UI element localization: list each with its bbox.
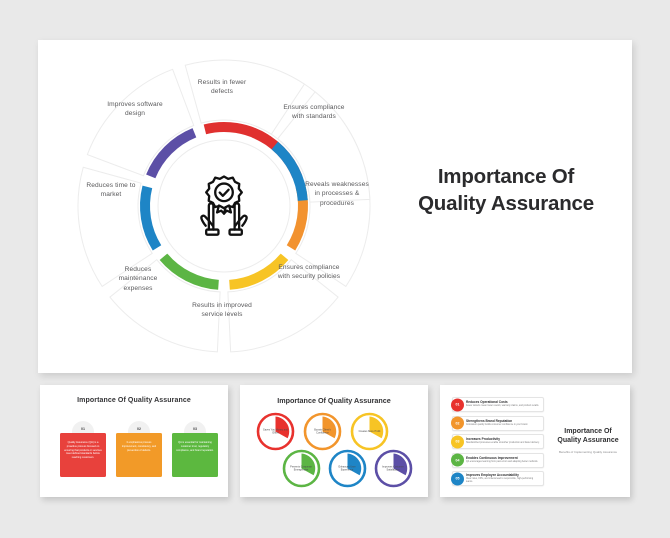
thumb3-item-number-1: 01 xyxy=(451,398,464,411)
thumb2-ring-label-2: Boosts Client's Confidence xyxy=(308,428,337,436)
thumb1-card-text-2: It emphasizes process improvement, consi… xyxy=(116,433,162,477)
thumbnail-1-content: Importance Of Quality Assurance 01Qualit… xyxy=(40,385,228,497)
main-title-line-1: Importance Of xyxy=(396,163,616,190)
presentation-preview-page: Results in fewer defectsEnsures complian… xyxy=(0,0,670,538)
wheel-label-6: Reduces maintenance expenses xyxy=(105,265,171,293)
thumb2-ring-5[interactable]: Enhances User Experience xyxy=(326,447,368,490)
thumbnail-slide-3[interactable]: 01Reduces Operational CostsFewer defects… xyxy=(440,385,630,497)
main-slide-title: Importance Of Quality Assurance xyxy=(396,163,616,218)
thumbnail-slide-1[interactable]: Importance Of Quality Assurance 01Qualit… xyxy=(40,385,228,497)
thumbnail-2-ring-list: Saves You Money and EffortBoosts Client'… xyxy=(254,410,414,490)
thumbnail-3-subtitle: Benefits of Implementing Quality Assuran… xyxy=(552,450,624,454)
thumb3-item-number-5: 05 xyxy=(451,472,464,485)
thumb2-ring-label-4: Prevents Corporate Emergencies xyxy=(287,465,315,473)
thumb2-ring-4[interactable]: Prevents Corporate Emergencies xyxy=(280,447,322,490)
thumb1-card-text-1: Quality Assurance (QA) is a proactive pr… xyxy=(60,433,106,477)
thumbnail-slide-2[interactable]: Importance Of Quality Assurance Saves Yo… xyxy=(240,385,428,497)
thumb3-item-text-5: Improves Employee AccountabilityClear ro… xyxy=(466,473,543,484)
quality-badge-in-hands-icon xyxy=(187,169,261,243)
main-title-line-2: Quality Assurance xyxy=(396,190,616,217)
thumb3-item-body-3: Standardized processes enable smoother p… xyxy=(466,442,540,445)
thumb3-item-text-1: Reduces Operational CostsFewer defects m… xyxy=(466,400,542,408)
thumb3-item-body-2: Consistent quality builds consumer confi… xyxy=(466,424,528,427)
thumb3-item-heading-2: Strengthens Brand Reputation xyxy=(466,419,528,423)
thumbnail-3-item-list: 01Reduces Operational CostsFewer defects… xyxy=(452,397,544,490)
thumbnail-2-ring-row-bottom: Prevents Corporate EmergenciesEnhances U… xyxy=(280,447,414,490)
thumbnail-1-title: Importance Of Quality Assurance xyxy=(40,397,228,404)
wheel-label-7: Reduces time to market xyxy=(78,181,144,200)
thumb2-ring-6[interactable]: Improves Customer Satisfaction xyxy=(372,447,414,490)
thumbnail-3-content: 01Reduces Operational CostsFewer defects… xyxy=(440,385,630,497)
wheel-label-4: Ensures compliance with security policie… xyxy=(276,263,342,282)
thumb3-item-body-4: QA encourages learning from past errors … xyxy=(466,461,538,464)
thumb1-card-text-3: QA is essential for maintaining customer… xyxy=(172,433,218,477)
thumb3-item-body-5: Clear roles, KPIs, and criteria lead to … xyxy=(466,478,540,485)
thumb3-item-3[interactable]: 03Increases ProductivityStandardized pro… xyxy=(452,434,544,449)
thumb3-item-heading-4: Enables Continuous Improvement xyxy=(466,456,538,460)
thumbnail-3-title-block: Importance Of Quality Assurance Benefits… xyxy=(552,427,624,454)
thumb3-item-2[interactable]: 02Strengthens Brand ReputationConsistent… xyxy=(452,416,544,431)
wheel-label-3: Reveals weaknesses in processes & proced… xyxy=(304,180,370,208)
wheel-label-2: Ensures compliance with standards xyxy=(281,103,347,122)
wheel-label-5: Results in improved service levels xyxy=(189,301,255,320)
thumb3-item-4[interactable]: 04Enables Continuous ImprovementQA encou… xyxy=(452,453,544,468)
thumb3-item-5[interactable]: 05Improves Employee AccountabilityClear … xyxy=(452,471,544,486)
thumb2-ring-label-3: Creates More Profit xyxy=(355,430,384,434)
thumb3-item-heading-1: Reduces Operational Costs xyxy=(466,400,539,404)
thumb3-item-1[interactable]: 01Reduces Operational CostsFewer defects… xyxy=(452,397,544,412)
thumb3-item-body-1: Fewer defects mean lower rework, warrant… xyxy=(466,405,539,408)
thumb2-ring-label-6: Improves Customer Satisfaction xyxy=(379,465,407,473)
thumb3-item-number-2: 02 xyxy=(451,417,464,430)
thumb3-item-number-4: 04 xyxy=(451,454,464,467)
thumb3-item-number-3: 03 xyxy=(451,435,464,448)
thumb2-ring-label-5: Enhances User Experience xyxy=(333,465,361,473)
main-slide[interactable]: Results in fewer defectsEnsures complian… xyxy=(38,40,632,373)
wheel-label-8: Improves software design xyxy=(102,100,168,119)
thumb3-item-heading-3: Increases Productivity xyxy=(466,437,540,441)
thumbnail-2-content: Importance Of Quality Assurance Saves Yo… xyxy=(240,385,428,497)
thumb3-item-heading-5: Improves Employee Accountability xyxy=(466,473,540,477)
thumb2-ring-label-1: Saves You Money and Effort xyxy=(261,428,290,436)
quality-assurance-wheel: Results in fewer defectsEnsures complian… xyxy=(76,58,372,354)
thumbnail-3-title-line-1: Importance Of xyxy=(552,427,624,436)
thumb3-item-text-2: Strengthens Brand ReputationConsistent q… xyxy=(466,419,531,427)
thumbnail-3-title-line-2: Quality Assurance xyxy=(552,436,624,445)
wheel-label-1: Results in fewer defects xyxy=(189,78,255,97)
thumb3-item-text-3: Increases ProductivityStandardized proce… xyxy=(466,437,543,445)
wheel-petal-6[interactable] xyxy=(87,69,193,175)
thumb3-item-text-4: Enables Continuous ImprovementQA encoura… xyxy=(466,456,541,464)
thumbnail-2-title: Importance Of Quality Assurance xyxy=(240,396,428,405)
